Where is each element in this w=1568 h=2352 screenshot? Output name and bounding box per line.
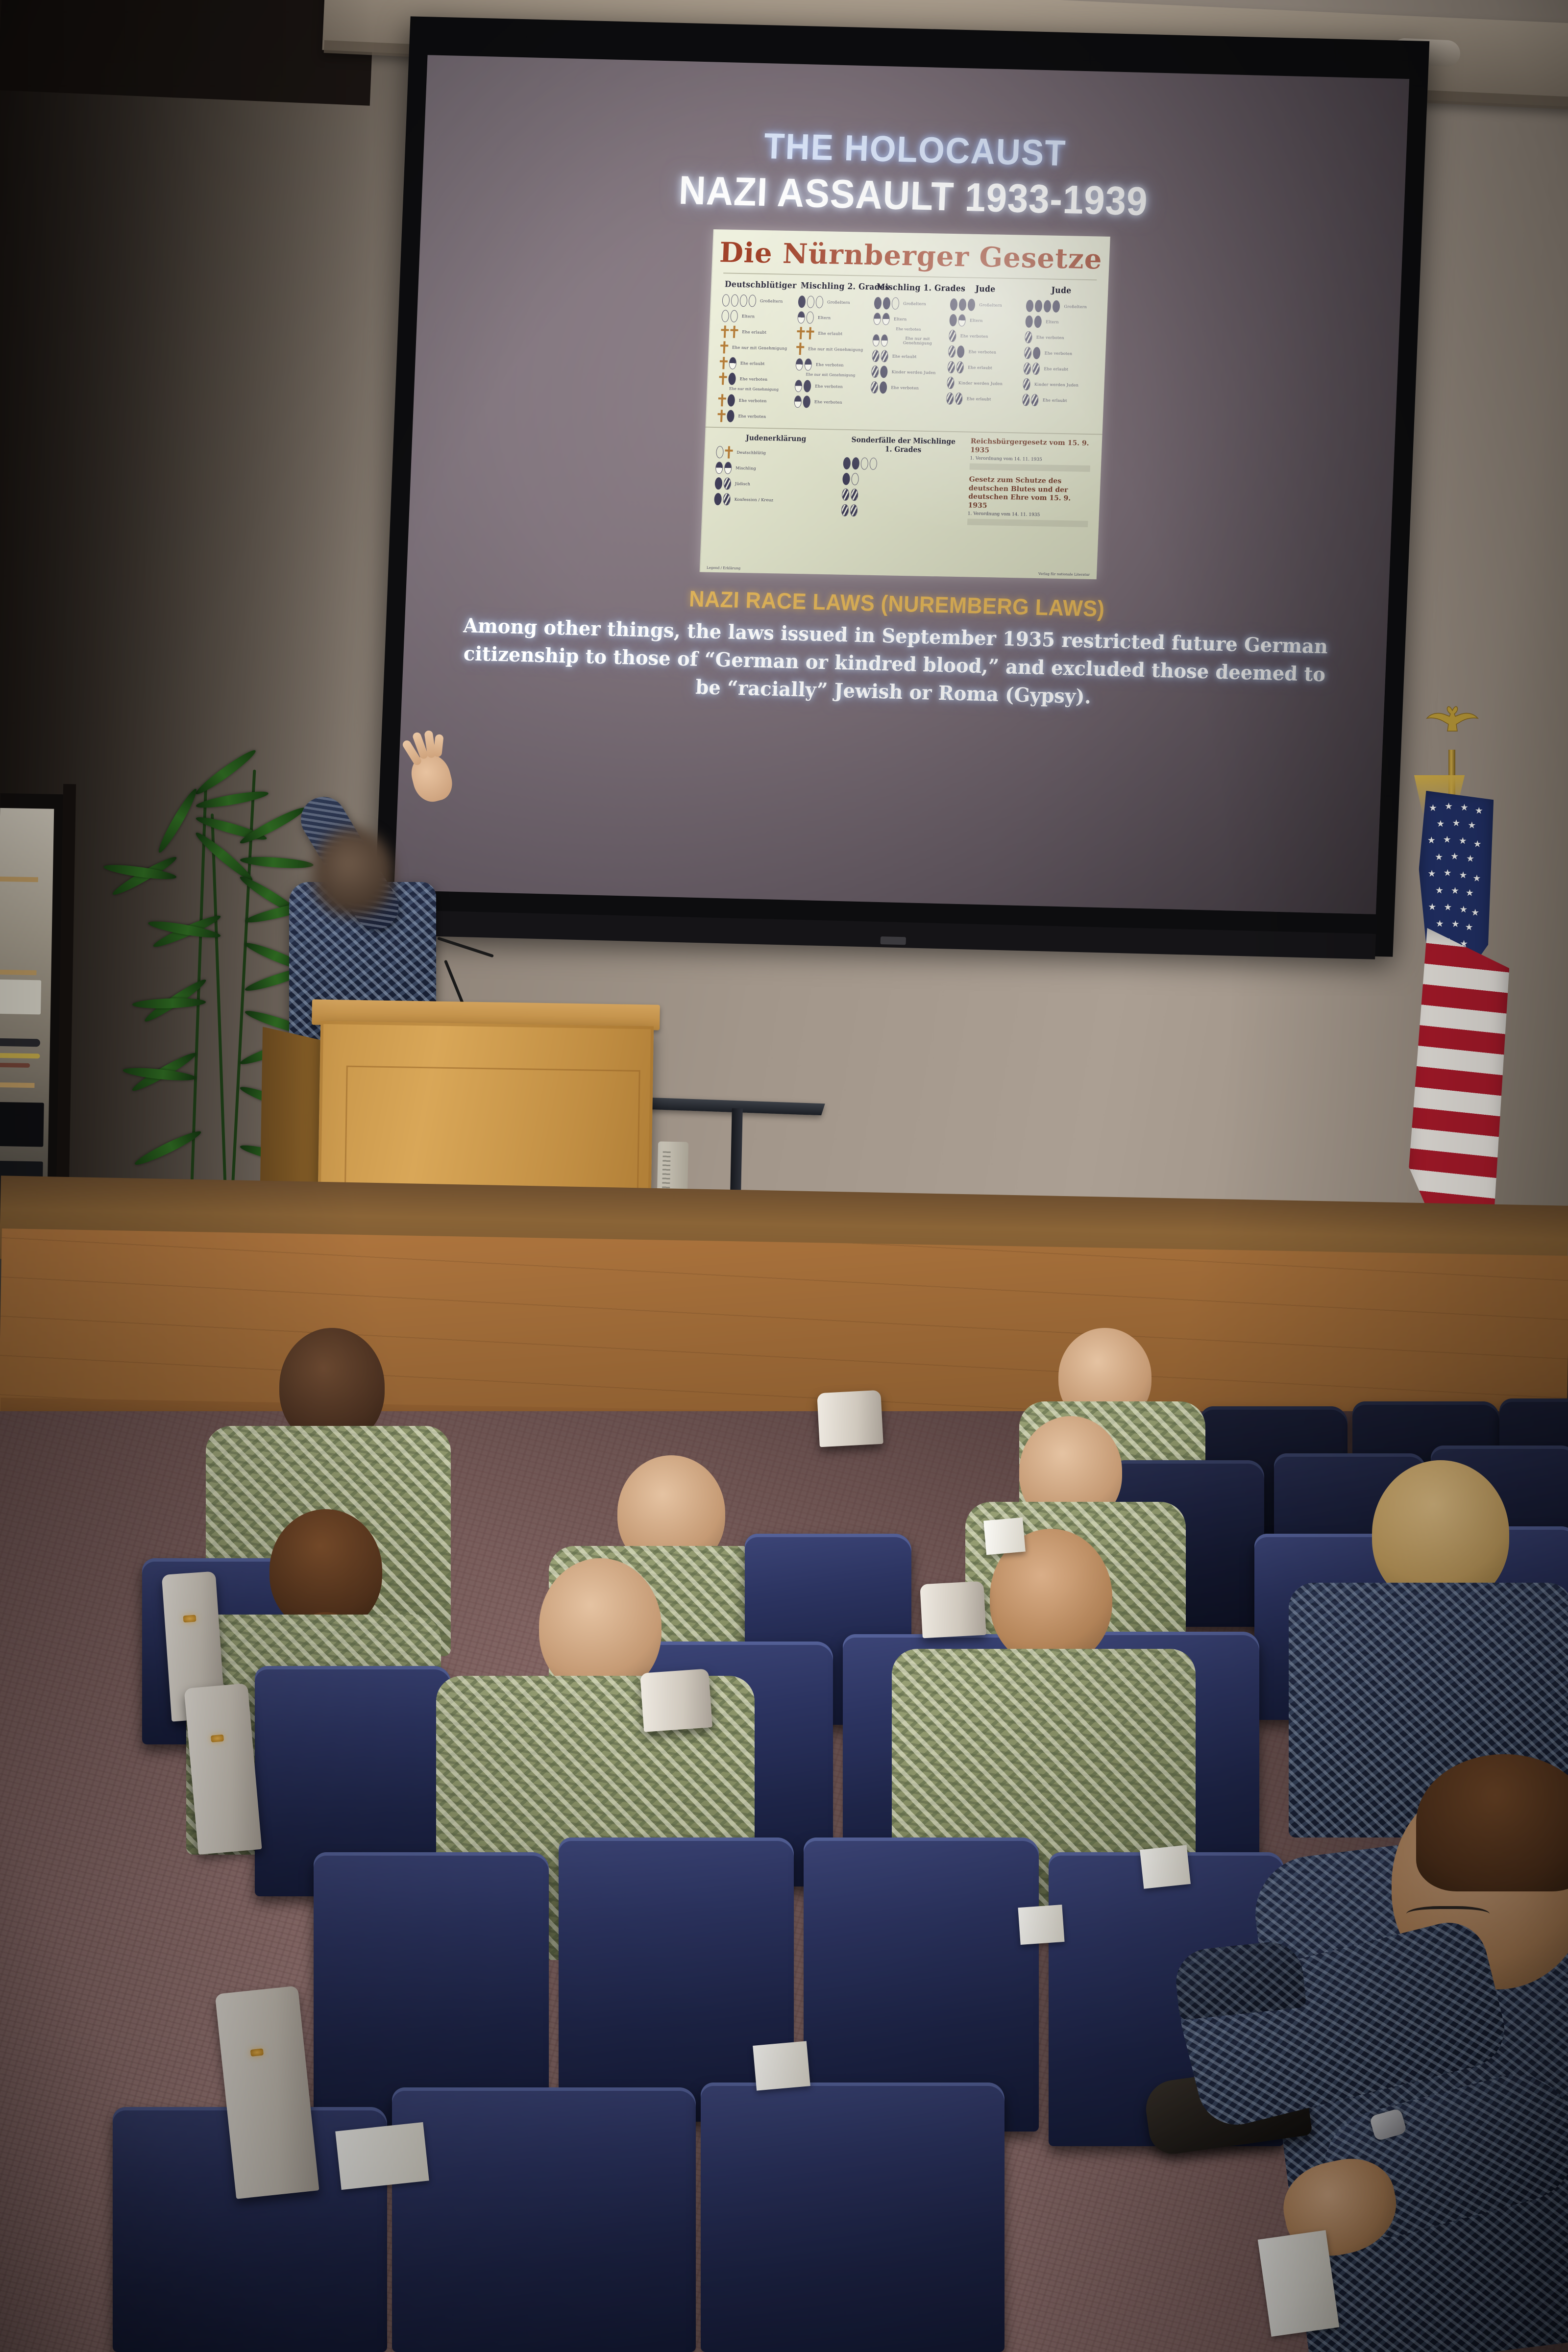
chart-row-label: Deutschblütig: [736, 450, 766, 455]
chart-row-label: Ehe nur mit Genehmigung: [892, 336, 943, 346]
attendee-hair: [1416, 1754, 1568, 1891]
av-equipment-rack: [0, 979, 41, 1014]
seat[interactable]: [392, 2087, 696, 2352]
chart-row-label: Ehe verboten: [738, 414, 766, 419]
screen-pull-tab[interactable]: [880, 936, 906, 945]
chart-columns: Deutschblütiger Großeltern Eltern Ehe er…: [706, 273, 1108, 429]
chart-row-label: Ehe verboten: [814, 400, 842, 405]
chart-row-label: Großeltern: [1064, 304, 1087, 309]
chart-row-label: Ehe erlaubt: [1043, 398, 1067, 403]
nuremberg-laws-chart: Die Nürnberger Gesetze Deutschblütiger G…: [700, 229, 1110, 579]
chart-row-label: Eltern: [894, 317, 907, 321]
chart-row-label: Großeltern: [827, 300, 850, 305]
chart-lower-section: Judenerklärung Deutschblütig Mischling J…: [712, 433, 836, 528]
cable-bundle: [0, 1038, 40, 1047]
seat[interactable]: [314, 1852, 549, 2127]
chart-row-label: Ehe verboten: [1044, 351, 1072, 356]
chart-column: Jude Großeltern Eltern Ehe verboten Ehe …: [944, 284, 1021, 428]
cable-bundle: [0, 1062, 30, 1068]
chart-row-label: Ehe erlaubt: [968, 365, 992, 370]
chart-footer-left: Legend / Erklärung: [707, 566, 740, 570]
handout-paper[interactable]: [753, 2041, 810, 2090]
law-reference: Gesetz zum Schutze des deutschen Blutes …: [967, 476, 1090, 527]
chart-column: Jude Großeltern Eltern Ehe verboten Ehe …: [1020, 285, 1097, 429]
chart-row-label: Eltern: [1046, 319, 1059, 324]
presenter-head-blurred: [313, 828, 393, 916]
chart-column: Mischling 1. Grades Großeltern Eltern Eh…: [868, 282, 945, 426]
eagle-finial-icon: [1426, 706, 1479, 740]
chart-row-label: Ehe erlaubt: [892, 354, 917, 359]
cable-bundle: [0, 1053, 40, 1058]
chart-row-label: Ehe verboten: [739, 398, 767, 403]
chart-row-label: Ehe verboten: [739, 376, 767, 381]
audience-seating-area: [0, 1411, 1568, 2352]
chart-footer: Legend / Erklärung Verlag für nationale …: [707, 566, 1090, 577]
law-citation-bar: [967, 519, 1088, 527]
chart-row-label: Eltern: [742, 314, 755, 318]
chart-row-label: Ehe erlaubt: [818, 331, 842, 336]
chart-row-label: Ehe verboten: [816, 362, 844, 367]
law-note: 1. Verordnung vom 14. 11. 1935: [968, 512, 1088, 519]
handout-paper[interactable]: [1140, 1845, 1191, 1889]
chart-column: Deutschblütiger Großeltern Eltern Ehe er…: [716, 279, 793, 423]
aisle-end-panel: [640, 1668, 712, 1732]
chart-title: Die Nürnberger Gesetze: [712, 236, 1110, 276]
aisle-end-panel: [920, 1581, 986, 1639]
chart-row-label: Ehe nur mit Genehmigung: [808, 346, 863, 352]
chart-row-label: Eltern: [970, 318, 983, 322]
chart-section-header: Judenerklärung: [720, 433, 833, 444]
presenter: [274, 735, 549, 1039]
auditorium-scene: THE HOLOCAUST NAZI ASSAULT 1933-1939 Die…: [0, 0, 1568, 2352]
chart-row-label: Ehe verboten: [960, 334, 988, 339]
chart-row-label: Ehe erlaubt: [1044, 367, 1068, 371]
chart-row-label: Ehe verboten: [815, 384, 843, 389]
presenter-hand: [408, 751, 456, 806]
chart-column-header: Mischling 1. Grades: [877, 282, 943, 293]
chart-row-label: Großeltern: [903, 301, 926, 306]
chart-note: Ehe nur mit Genehmigung: [795, 372, 866, 378]
chart-row-label: Kinder werden Juden: [1034, 382, 1078, 387]
aisle-end-panel: [817, 1390, 883, 1447]
chart-row-label: Kinder werden Juden: [891, 370, 935, 375]
chart-row-label: Ehe erlaubt: [740, 361, 765, 366]
slide-caption-body: Among other things, the laws issued in S…: [450, 612, 1339, 717]
aisle-light: [211, 1735, 224, 1742]
chart-lower-section: Sonderfälle der Mischlinge 1. Grades: [839, 435, 964, 531]
chart-row-label: Großeltern: [979, 302, 1002, 307]
chart-note: Ehe verboten: [873, 326, 944, 332]
chart-column-header: Deutschblütiger: [725, 279, 791, 290]
chart-column-header: Jude: [953, 284, 1019, 294]
law-citation-bar: [969, 464, 1090, 472]
chart-footer-right: Verlag für nationale Literatur: [1038, 572, 1090, 577]
chart-row-label: Jüdisch: [735, 482, 751, 487]
chart-row-label: Kinder werden Juden: [958, 381, 1003, 386]
seat[interactable]: [701, 2082, 1004, 2352]
chart-column: Mischling 2. Grades Großeltern Eltern Eh…: [792, 281, 869, 425]
handout-paper[interactable]: [1258, 2230, 1339, 2337]
chart-column-header: Jude: [1029, 285, 1095, 296]
aisle-light: [183, 1615, 196, 1623]
chart-law-references: Reichsbürgergesetz vom 15. 9. 1935 1. Ve…: [967, 438, 1091, 533]
handout-paper[interactable]: [335, 2122, 429, 2190]
chart-row-label: Ehe verboten: [891, 385, 919, 390]
av-equipment-rack: [0, 1102, 44, 1147]
chart-row-label: Eltern: [818, 315, 831, 319]
chart-note: Ehe nur mit Genehmigung: [719, 386, 789, 392]
law-title: Gesetz zum Schutze des deutschen Blutes …: [968, 476, 1090, 512]
chart-lower-sections: Judenerklärung Deutschblütig Mischling J…: [701, 427, 1102, 534]
handout-paper[interactable]: [1018, 1905, 1064, 1945]
chart-row-label: Großeltern: [760, 298, 783, 303]
aisle-light: [250, 2048, 264, 2057]
chart-row-label: Ehe verboten: [1036, 335, 1064, 340]
law-note: 1. Verordnung vom 14. 11. 1935: [970, 456, 1090, 464]
chart-column-header: Mischling 2. Grades: [801, 281, 867, 292]
law-title: Reichsbürgergesetz vom 15. 9. 1935: [970, 438, 1091, 457]
chart-row-label: Ehe nur mit Genehmigung: [732, 345, 787, 350]
chart-row-label: Ehe erlaubt: [966, 396, 991, 401]
chart-row-label: Konfession / Kreuz: [734, 497, 773, 502]
handout-paper[interactable]: [983, 1518, 1026, 1555]
chart-section-header: Sonderfälle der Mischlinge 1. Grades: [847, 435, 959, 455]
law-reference: Reichsbürgergesetz vom 15. 9. 1935 1. Ve…: [969, 438, 1091, 472]
chart-row-label: Ehe erlaubt: [742, 330, 766, 335]
chart-row-label: Ehe verboten: [968, 349, 996, 354]
chart-row-label: Mischling: [735, 466, 756, 471]
